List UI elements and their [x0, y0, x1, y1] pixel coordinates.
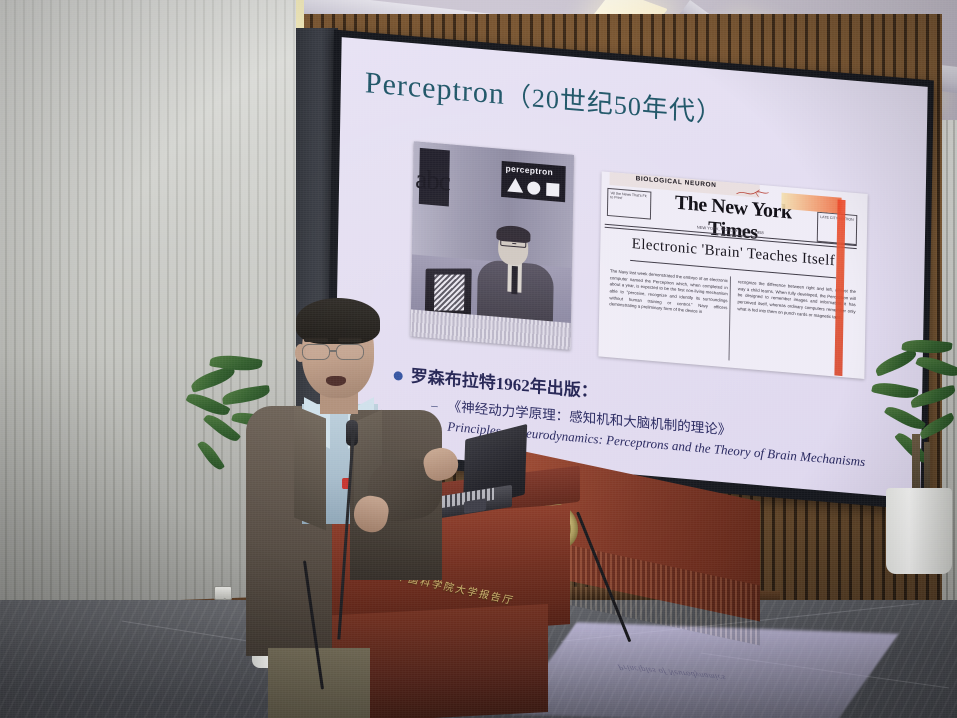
speaker-glasses-icon	[302, 344, 330, 360]
speaker-eyebrow	[304, 338, 328, 342]
speaker-person	[246, 300, 456, 718]
slide-title-cn: （20世纪50年代）	[505, 81, 724, 129]
plant-trunk	[912, 434, 920, 494]
newspaper-slogan-box: 'All the News That's Fit to Print'	[607, 188, 652, 220]
newspaper-column-1: The Navy last week demonstrated the embr…	[609, 268, 728, 318]
speaker-glasses-bridge	[330, 350, 336, 352]
plant-leaf	[884, 402, 926, 433]
plant-leaf	[189, 365, 237, 393]
newspaper-column-divider	[728, 276, 731, 360]
circle-shape-icon	[527, 181, 540, 195]
lecture-hall-scene: Principles of Neurodynamics Perceptron（2…	[0, 0, 957, 718]
speaker-eyebrow	[338, 338, 362, 342]
triangle-shape-icon	[507, 177, 523, 192]
plant-leaf	[197, 438, 225, 472]
plant-pot	[886, 488, 952, 574]
slide-title-en: Perceptron	[365, 66, 506, 111]
speaker-glasses-icon	[336, 344, 364, 360]
photo-man-tie	[511, 266, 518, 295]
perceptron-sign-text: perceptron	[506, 163, 554, 177]
plant-leaf	[871, 379, 919, 401]
speaker-mouth	[326, 376, 346, 386]
plant-leaf	[873, 348, 919, 377]
slide-reflection-on-floor	[511, 622, 898, 718]
newspaper-clipping: BIOLOGICAL NEURON 'All the News That's F…	[598, 171, 867, 379]
potted-plant-right	[872, 338, 957, 578]
biological-neuron-label: BIOLOGICAL NEURON	[636, 175, 717, 189]
plant-leaf	[915, 352, 957, 381]
abc-sign-text: abc	[415, 164, 450, 198]
speaker-lapel	[294, 406, 326, 531]
slide-title: Perceptron（20世纪50年代）	[365, 63, 724, 130]
square-shape-icon	[546, 183, 559, 197]
perceptron-sign: perceptron	[501, 161, 566, 202]
